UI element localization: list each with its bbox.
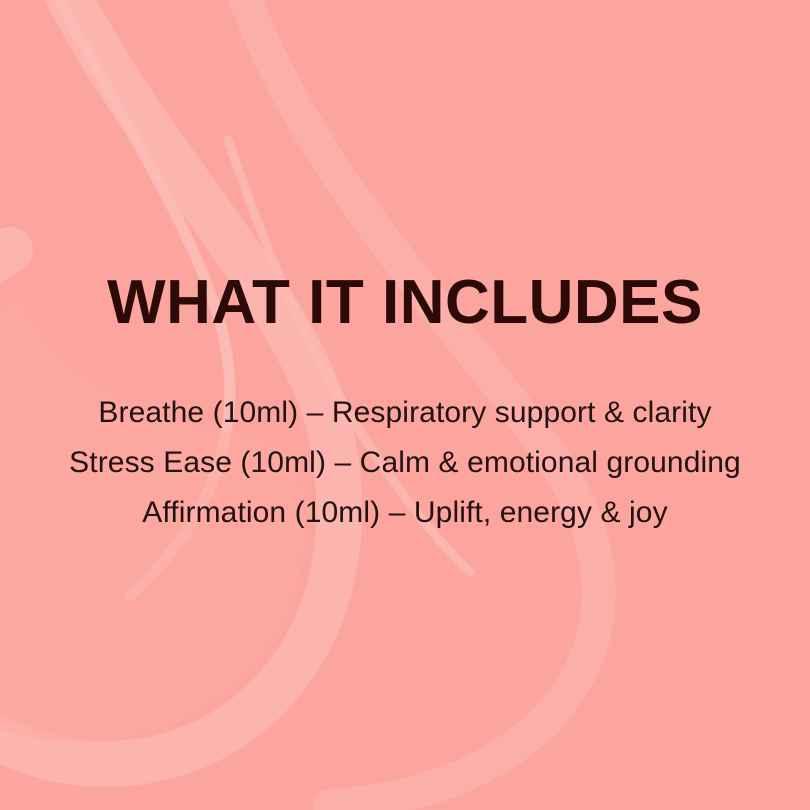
list-item: Breathe (10ml) – Respiratory support & c… [0,388,810,438]
list-item: Stress Ease (10ml) – Calm & emotional gr… [0,438,810,488]
page-title: WHAT IT INCLUDES [0,272,810,334]
includes-list: Breathe (10ml) – Respiratory support & c… [0,388,810,538]
promo-card: WHAT IT INCLUDES Breathe (10ml) – Respir… [0,0,810,810]
list-item: Affirmation (10ml) – Uplift, energy & jo… [0,488,810,538]
card-content: WHAT IT INCLUDES Breathe (10ml) – Respir… [0,0,810,810]
